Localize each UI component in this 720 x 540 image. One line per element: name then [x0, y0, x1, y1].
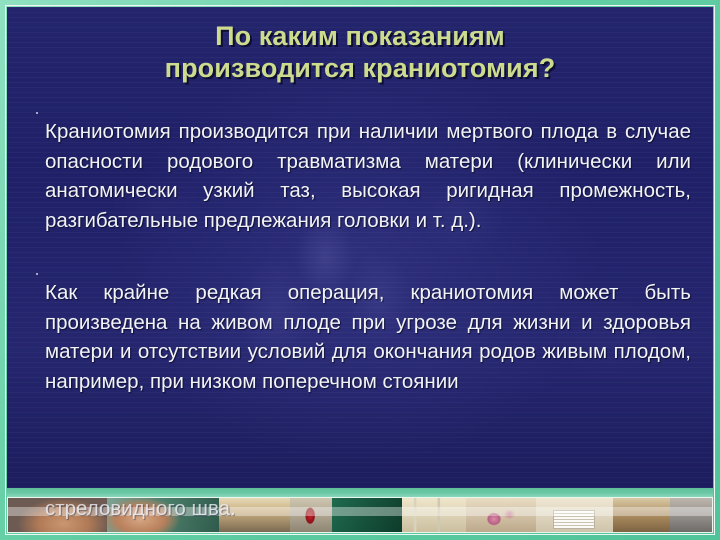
- slide-body: · Краниотомия производится при наличии м…: [7, 85, 713, 417]
- photo-tile-wooden-cabinets: [613, 498, 669, 532]
- photo-tile-instrument-tray: [219, 498, 289, 532]
- slide-title: По каким показаниям производится краниот…: [7, 7, 713, 85]
- bullet-text: Краниотомия производится при наличии мер…: [45, 117, 691, 235]
- photo-tile-white-equipment-incubator: [536, 498, 613, 532]
- photo-tile-iv-pole-rails: [402, 498, 465, 532]
- slide-content-panel: По каким показаниям производится краниот…: [7, 7, 713, 488]
- photo-strip: [7, 497, 713, 533]
- bullet-dot-icon: ·: [29, 97, 45, 127]
- teal-divider-band: [7, 488, 713, 497]
- photo-tile-green-surgical-drape: [332, 498, 402, 532]
- bullet-item: · Как крайне редкая операция, краниотоми…: [29, 258, 691, 417]
- bullet-text: Как крайне редкая операция, краниотомия …: [45, 278, 691, 396]
- photo-tile-grey-wall: [670, 498, 712, 532]
- presentation-slide: По каким показаниям производится краниот…: [0, 0, 720, 540]
- slide-title-line-2: производится краниотомия?: [47, 53, 673, 85]
- photo-tile-surgical-gown-arm: [107, 498, 220, 532]
- bullet-dot-icon: ·: [29, 258, 45, 288]
- photo-tile-bedside-flowers: [466, 498, 536, 532]
- photo-strip-canvas: [8, 498, 712, 532]
- slide-title-line-1: По каким показаниям: [47, 21, 673, 53]
- bullet-item: · Краниотомия производится при наличии м…: [29, 97, 691, 256]
- photo-tile-red-cap-bottle: [290, 498, 332, 532]
- photo-tile-operating-room-staff: [8, 498, 107, 532]
